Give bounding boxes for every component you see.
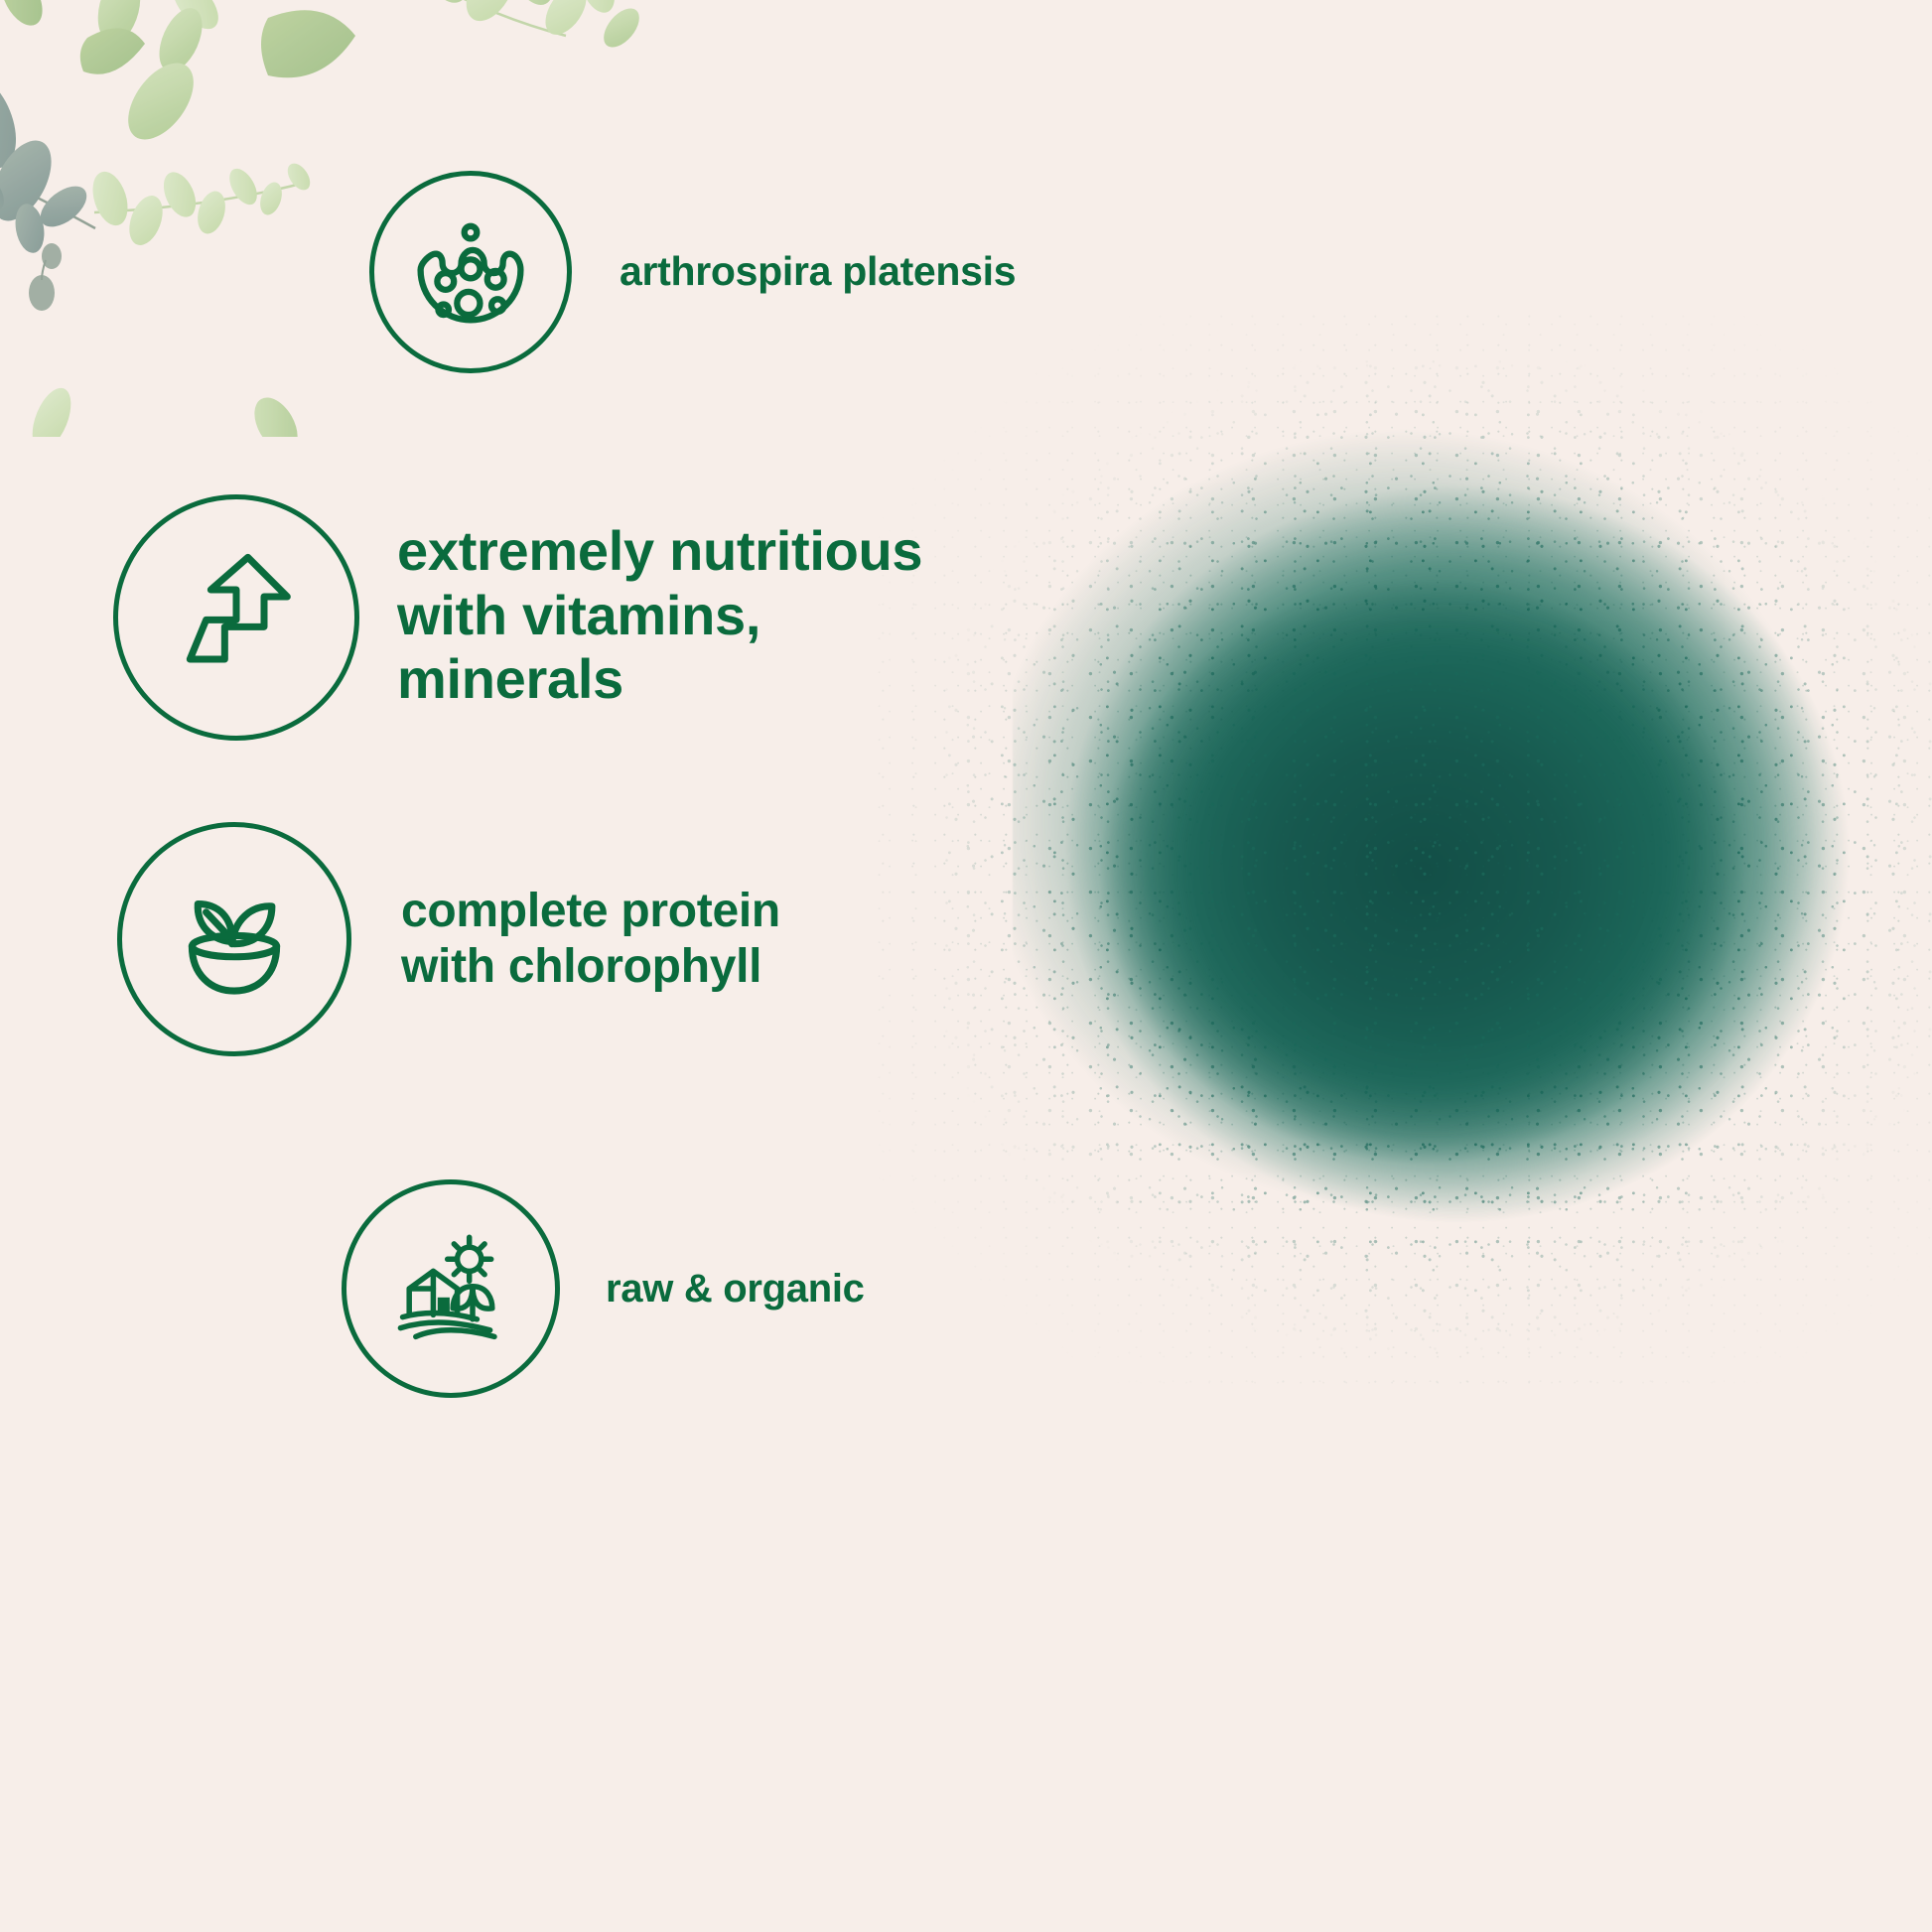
algae-cell-icon-ring bbox=[369, 171, 572, 373]
algae-cell-icon bbox=[408, 209, 533, 335]
farm-sun-plant-icon bbox=[385, 1223, 516, 1354]
feature-label: extremely nutritious with vitamins, mine… bbox=[397, 519, 922, 713]
spirulina-powder-image bbox=[1013, 427, 1866, 1281]
powder-fine-dust bbox=[874, 308, 1932, 1400]
product-infographic: arthrospira platensis extremely nutritio… bbox=[0, 0, 1932, 1932]
feature-label: arthrospira platensis bbox=[620, 248, 1016, 296]
upward-zigzag-arrow-icon-ring bbox=[113, 494, 359, 741]
feature-item-protein: complete protein with chlorophyll bbox=[117, 822, 780, 1056]
upward-zigzag-arrow-icon bbox=[167, 548, 306, 687]
feature-label: raw & organic bbox=[606, 1266, 865, 1311]
feature-item-nutritious: extremely nutritious with vitamins, mine… bbox=[113, 494, 922, 741]
feature-label: complete protein with chlorophyll bbox=[401, 884, 780, 994]
bowl-with-leaves-icon-ring bbox=[117, 822, 351, 1056]
feature-item-raw-organic: raw & organic bbox=[342, 1179, 865, 1398]
farm-sun-plant-icon-ring bbox=[342, 1179, 560, 1398]
bowl-with-leaves-icon bbox=[164, 869, 305, 1010]
feature-item-arthrospira: arthrospira platensis bbox=[369, 171, 1016, 373]
